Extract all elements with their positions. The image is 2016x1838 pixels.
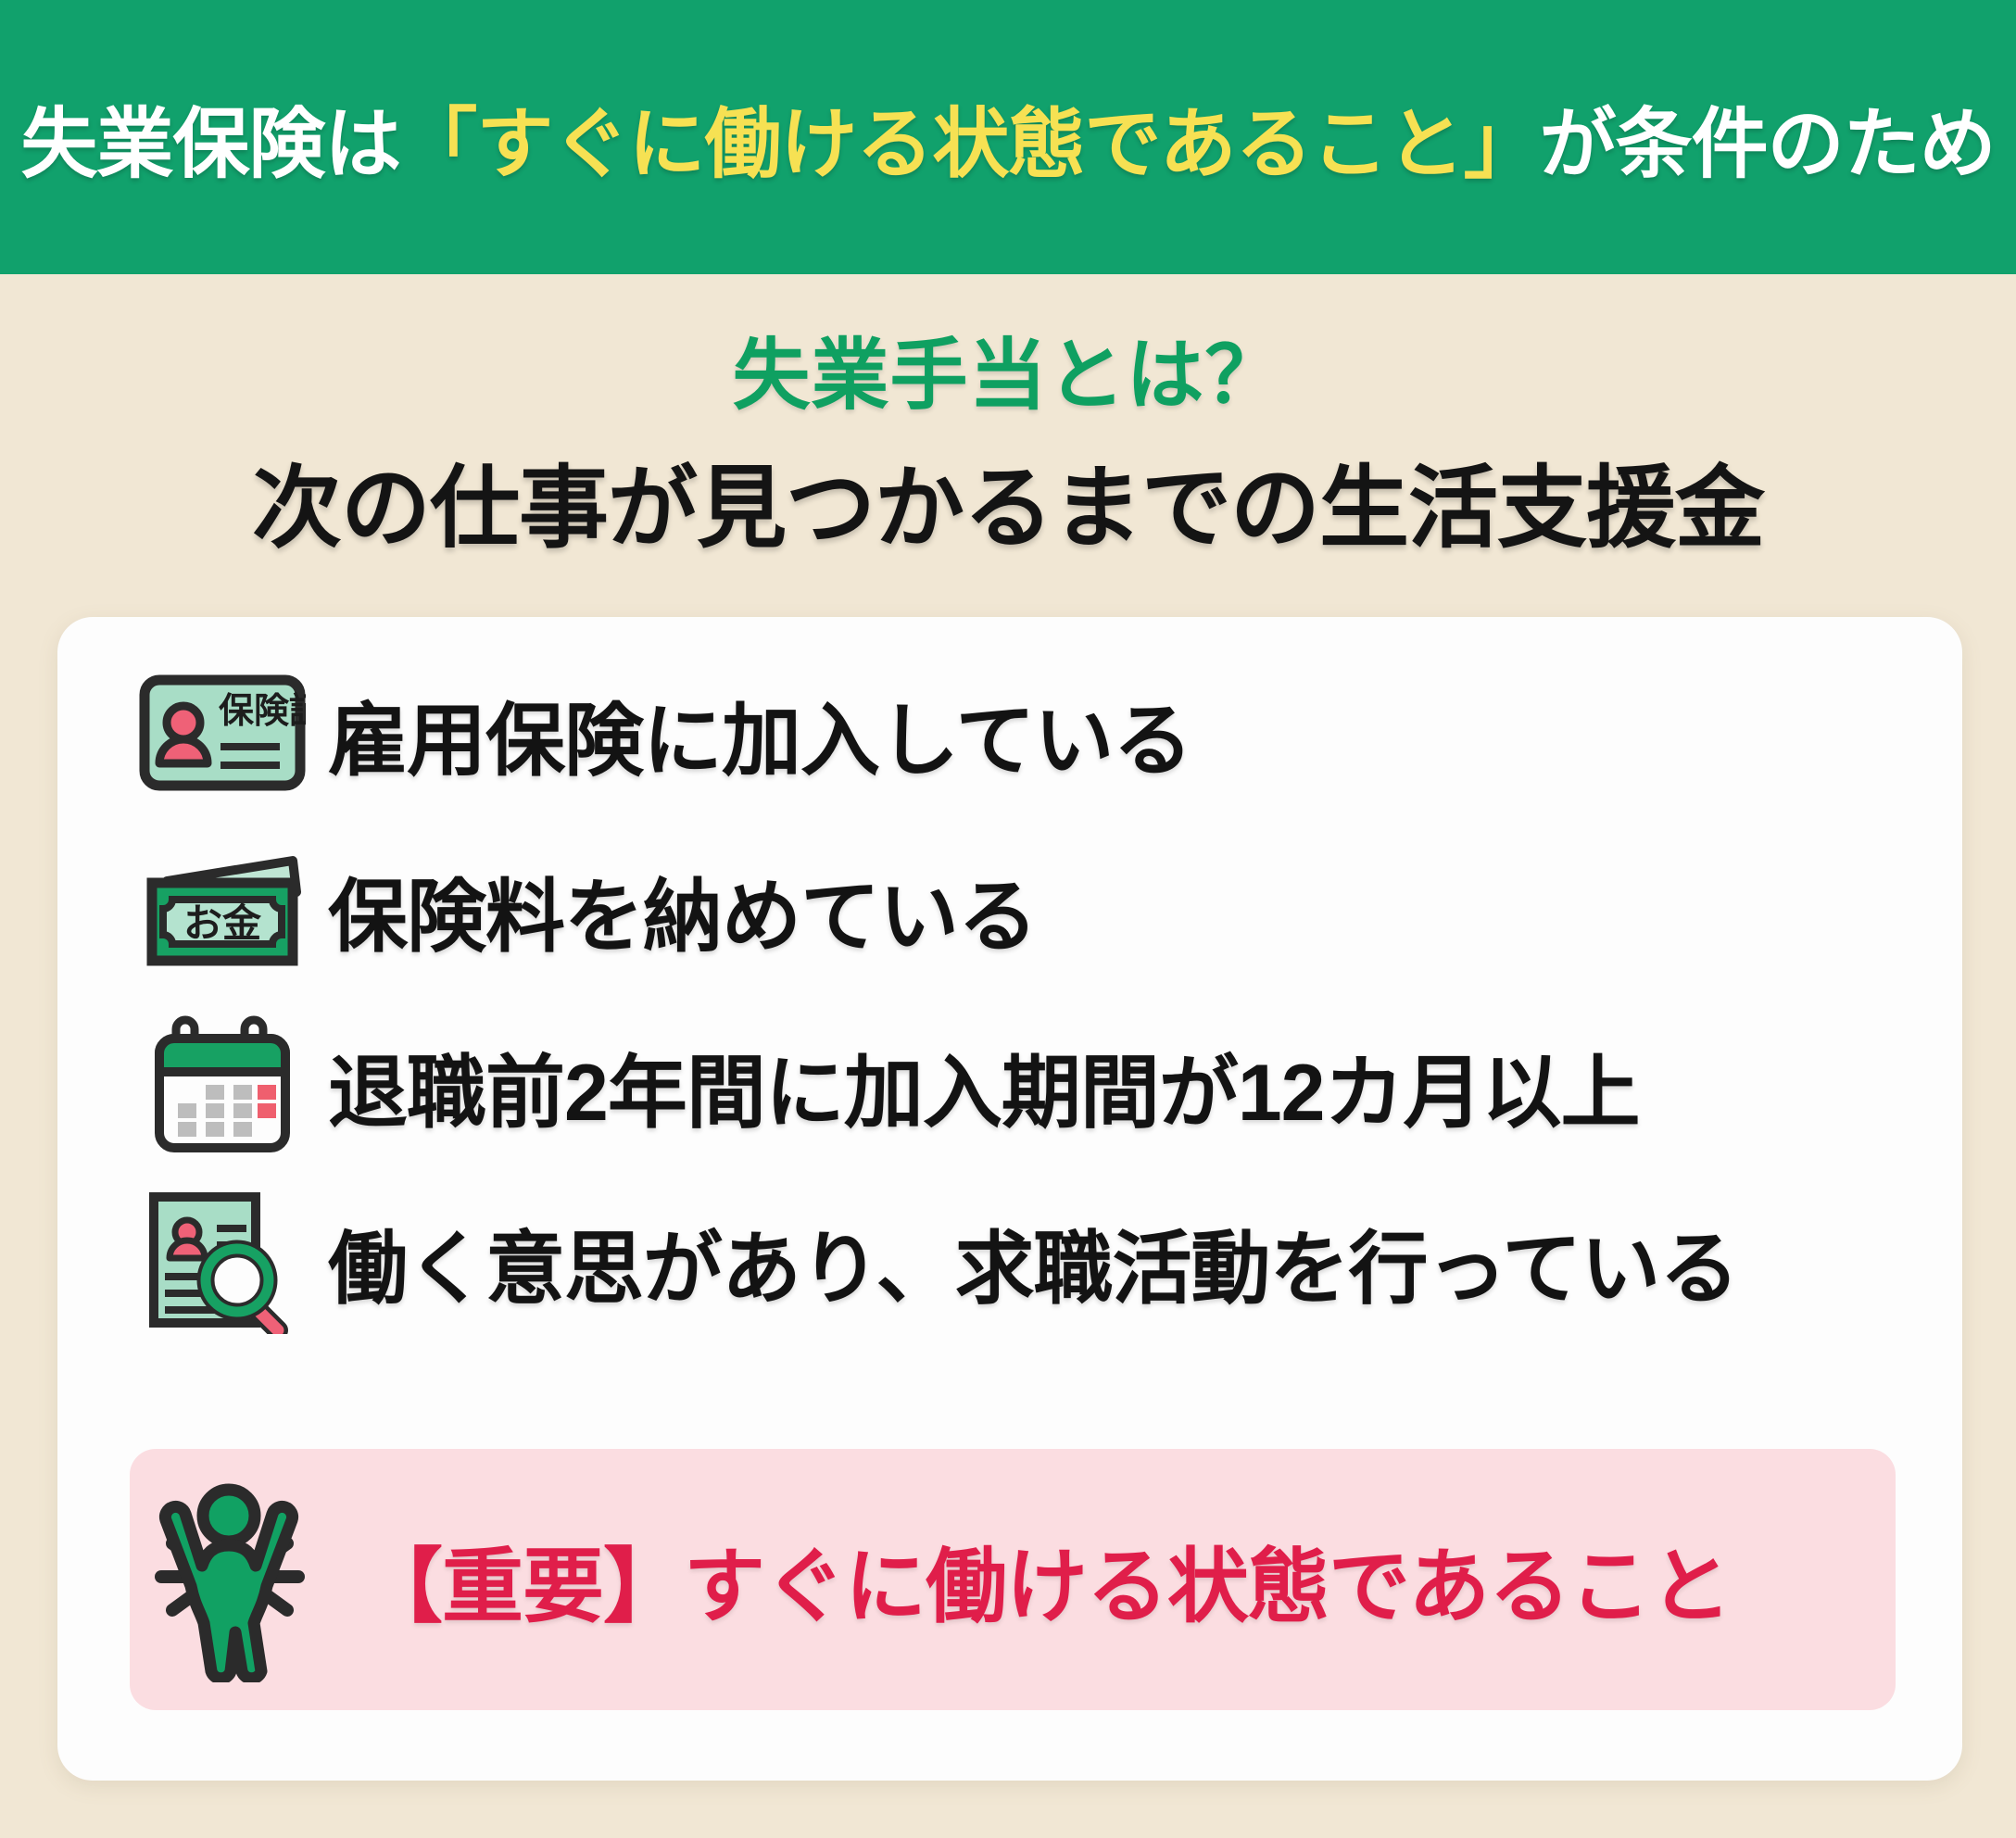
banner-title: 失業保険は「すぐに働ける状態であること」が条件のため bbox=[20, 82, 1995, 193]
calendar-icon bbox=[130, 1014, 315, 1155]
banner-text-after: が条件のため bbox=[1540, 101, 1996, 187]
list-item-label: 退職前2年間に加入期間が12カ月以上 bbox=[328, 1027, 1640, 1143]
title-section: 失業手当とは？ 次の仕事が見つかるまでの生活支援金 bbox=[0, 274, 2016, 565]
banner-text-highlight: 「すぐに働ける状態であること」 bbox=[400, 101, 1539, 187]
resume-search-icon bbox=[130, 1188, 315, 1334]
list-item: 保険証 雇用保険に加入している bbox=[57, 645, 1962, 821]
svg-text:お金: お金 bbox=[183, 901, 262, 945]
banknote-icon: お金 bbox=[130, 848, 315, 970]
conditions-card: 保険証 雇用保険に加入している お金 保険料を納めている bbox=[57, 617, 1962, 1781]
cheering-person-icon bbox=[133, 1477, 356, 1682]
important-condition-row: 【重要】すぐに働ける状態であること bbox=[130, 1449, 1896, 1710]
list-item: お金 保険料を納めている bbox=[57, 821, 1962, 997]
list-item-label: 働く意思があり、求職活動を行っている bbox=[328, 1203, 1738, 1319]
insurance-card-icon: 保険証 bbox=[130, 674, 315, 791]
important-condition-label: 【重要】すぐに働ける状態であること bbox=[361, 1521, 1731, 1639]
list-item: 退職前2年間に加入期間が12カ月以上 bbox=[57, 997, 1962, 1173]
header-banner: 失業保険は「すぐに働ける状態であること」が条件のため bbox=[0, 0, 2016, 274]
list-item: 働く意思があり、求職活動を行っている bbox=[57, 1173, 1962, 1349]
banner-text-before: 失業保険は bbox=[20, 101, 400, 187]
list-item-label: 雇用保険に加入している bbox=[328, 675, 1191, 791]
svg-text:保険証: 保険証 bbox=[219, 692, 306, 731]
section-question-heading: 失業手当とは？ bbox=[732, 313, 1283, 425]
section-definition-heading: 次の仕事が見つかるまでの生活支援金 bbox=[252, 434, 1764, 565]
conditions-list: 保険証 雇用保険に加入している お金 保険料を納めている bbox=[57, 617, 1962, 1349]
list-item-label: 保険料を納めている bbox=[328, 851, 1037, 967]
